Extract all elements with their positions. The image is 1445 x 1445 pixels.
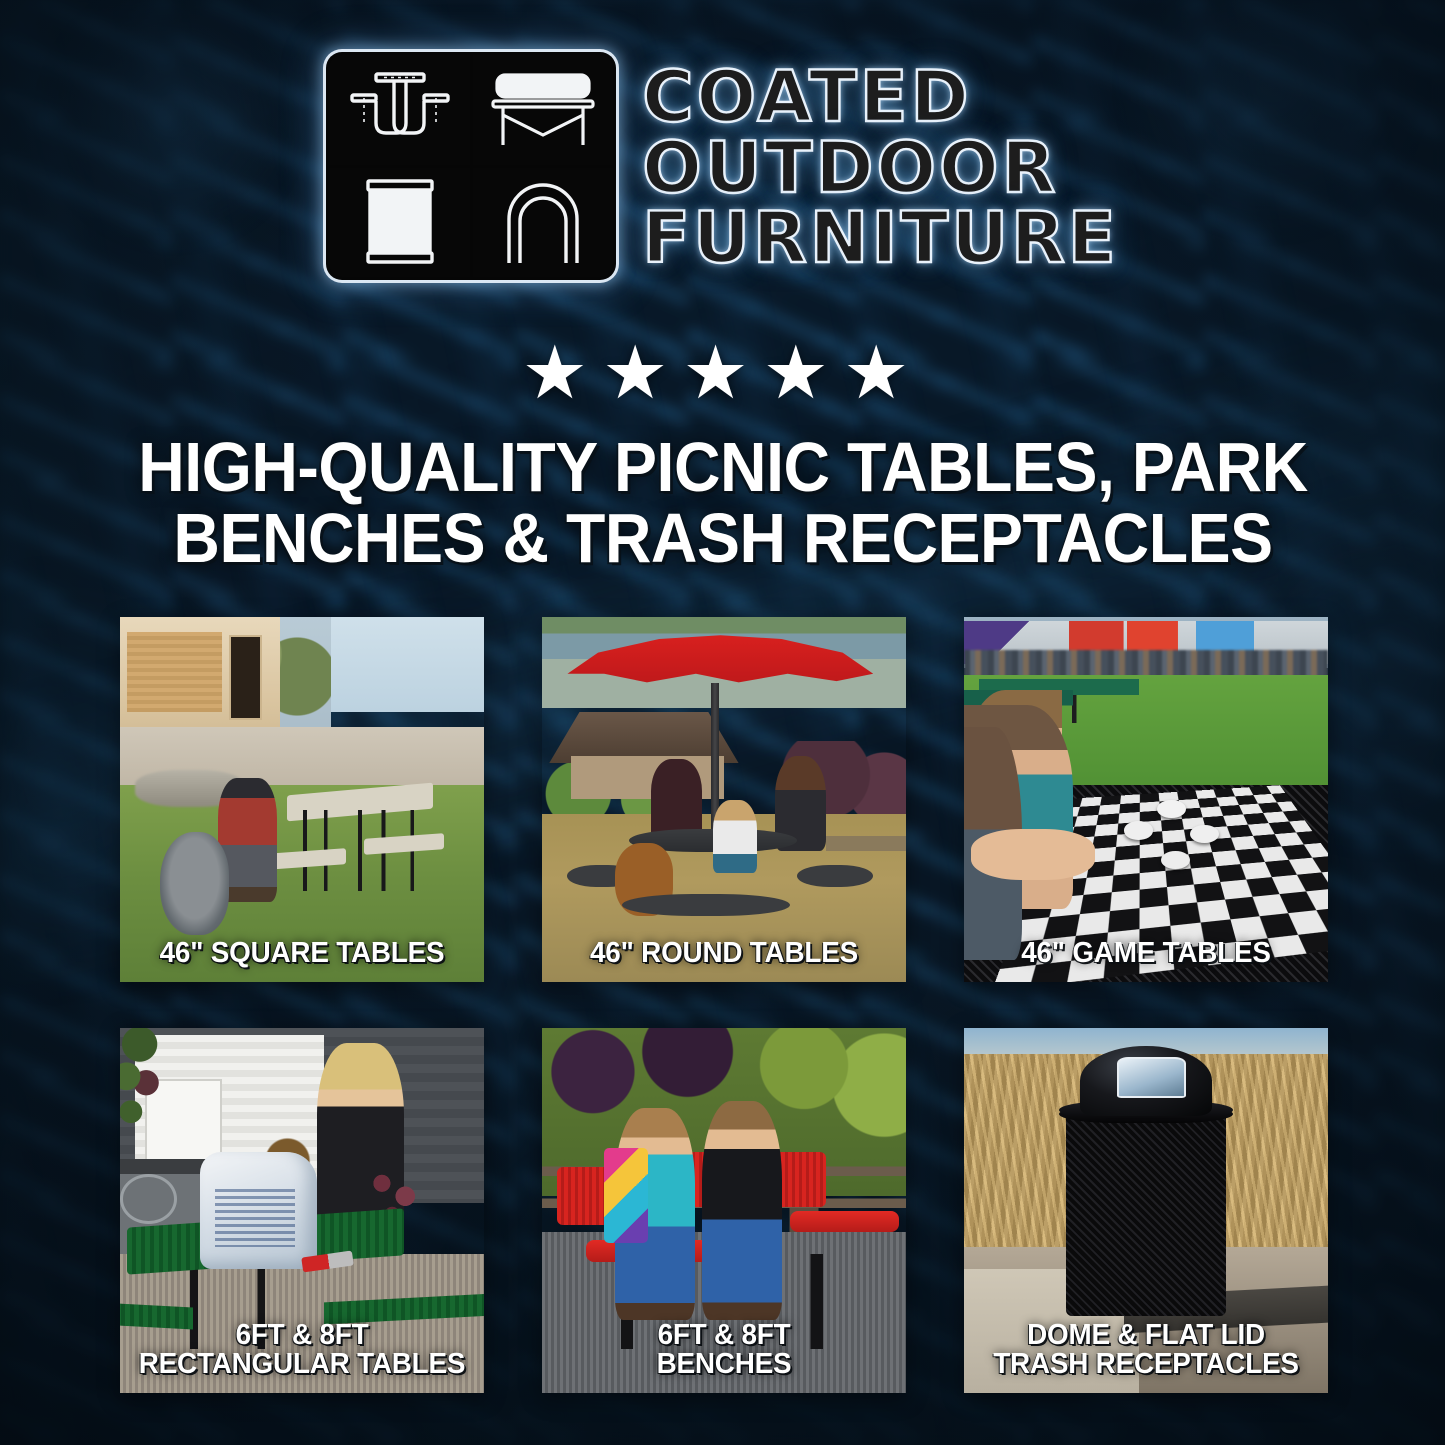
- product-card-benches[interactable]: 6FT & 8FT BENCHES: [542, 1028, 906, 1393]
- product-card-round-tables[interactable]: 46" ROUND TABLES: [542, 617, 906, 982]
- product-caption: DOME & FLAT LID TRASH RECEPTACLES: [970, 1321, 1322, 1379]
- brand-logo-mark[interactable]: [326, 52, 616, 280]
- product-grid: 46" SQUARE TABLES 46" ROUND TABLES: [120, 617, 1324, 1393]
- product-photo-game-tables: [964, 617, 1328, 982]
- product-caption-line-1: 6FT & 8FT: [555, 1321, 893, 1350]
- product-photo-round-tables: [542, 617, 906, 982]
- page-title: HIGH-QUALITY PICNIC TABLES, PARK BENCHES…: [78, 432, 1368, 575]
- product-caption-line-2: RECTANGULAR TABLES: [133, 1350, 471, 1379]
- brand-word-line-2: OUTDOOR: [642, 134, 1119, 203]
- product-caption: 46" SQUARE TABLES: [126, 939, 478, 968]
- product-photo-square-tables: [120, 617, 484, 982]
- product-card-rectangular-tables[interactable]: 6FT & 8FT RECTANGULAR TABLES: [120, 1028, 484, 1393]
- product-caption: 46" ROUND TABLES: [548, 939, 900, 968]
- product-caption-line-1: 46" ROUND TABLES: [555, 939, 893, 968]
- product-caption-line-2: BENCHES: [555, 1350, 893, 1379]
- product-card-square-tables[interactable]: 46" SQUARE TABLES: [120, 617, 484, 982]
- brand-header: COATED OUTDOOR FURNITURE: [0, 52, 1445, 280]
- product-caption-line-1: 6FT & 8FT: [133, 1321, 471, 1350]
- park-bench-icon: [473, 55, 614, 165]
- brand-word-line-1: COATED: [642, 63, 1119, 132]
- headline-line-2: BENCHES & TRASH RECEPTACLES: [129, 503, 1316, 574]
- product-caption-line-1: DOME & FLAT LID: [977, 1321, 1315, 1350]
- poster-canvas: COATED OUTDOOR FURNITURE ★★★★★ HIGH-QUAL…: [0, 0, 1445, 1445]
- headline-line-1: HIGH-QUALITY PICNIC TABLES, PARK: [129, 432, 1316, 503]
- product-caption-line-1: 46" GAME TABLES: [977, 939, 1315, 968]
- brand-word-line-3: FURNITURE: [642, 204, 1119, 273]
- brand-wordmark: COATED OUTDOOR FURNITURE: [642, 59, 1119, 273]
- product-card-trash-receptacles[interactable]: DOME & FLAT LID TRASH RECEPTACLES: [964, 1028, 1328, 1393]
- square-picnic-table-icon: [329, 55, 470, 165]
- product-caption-line-2: TRASH RECEPTACLES: [977, 1350, 1315, 1379]
- product-caption-line-1: 46" SQUARE TABLES: [133, 939, 471, 968]
- product-caption: 46" GAME TABLES: [970, 939, 1322, 968]
- trash-receptacle-icon: [329, 168, 470, 278]
- product-card-game-tables[interactable]: 46" GAME TABLES: [964, 617, 1328, 982]
- product-caption: 6FT & 8FT RECTANGULAR TABLES: [126, 1321, 478, 1379]
- product-caption: 6FT & 8FT BENCHES: [548, 1321, 900, 1379]
- star-rating: ★★★★★: [0, 336, 1445, 410]
- bike-rack-arch-icon: [473, 168, 614, 278]
